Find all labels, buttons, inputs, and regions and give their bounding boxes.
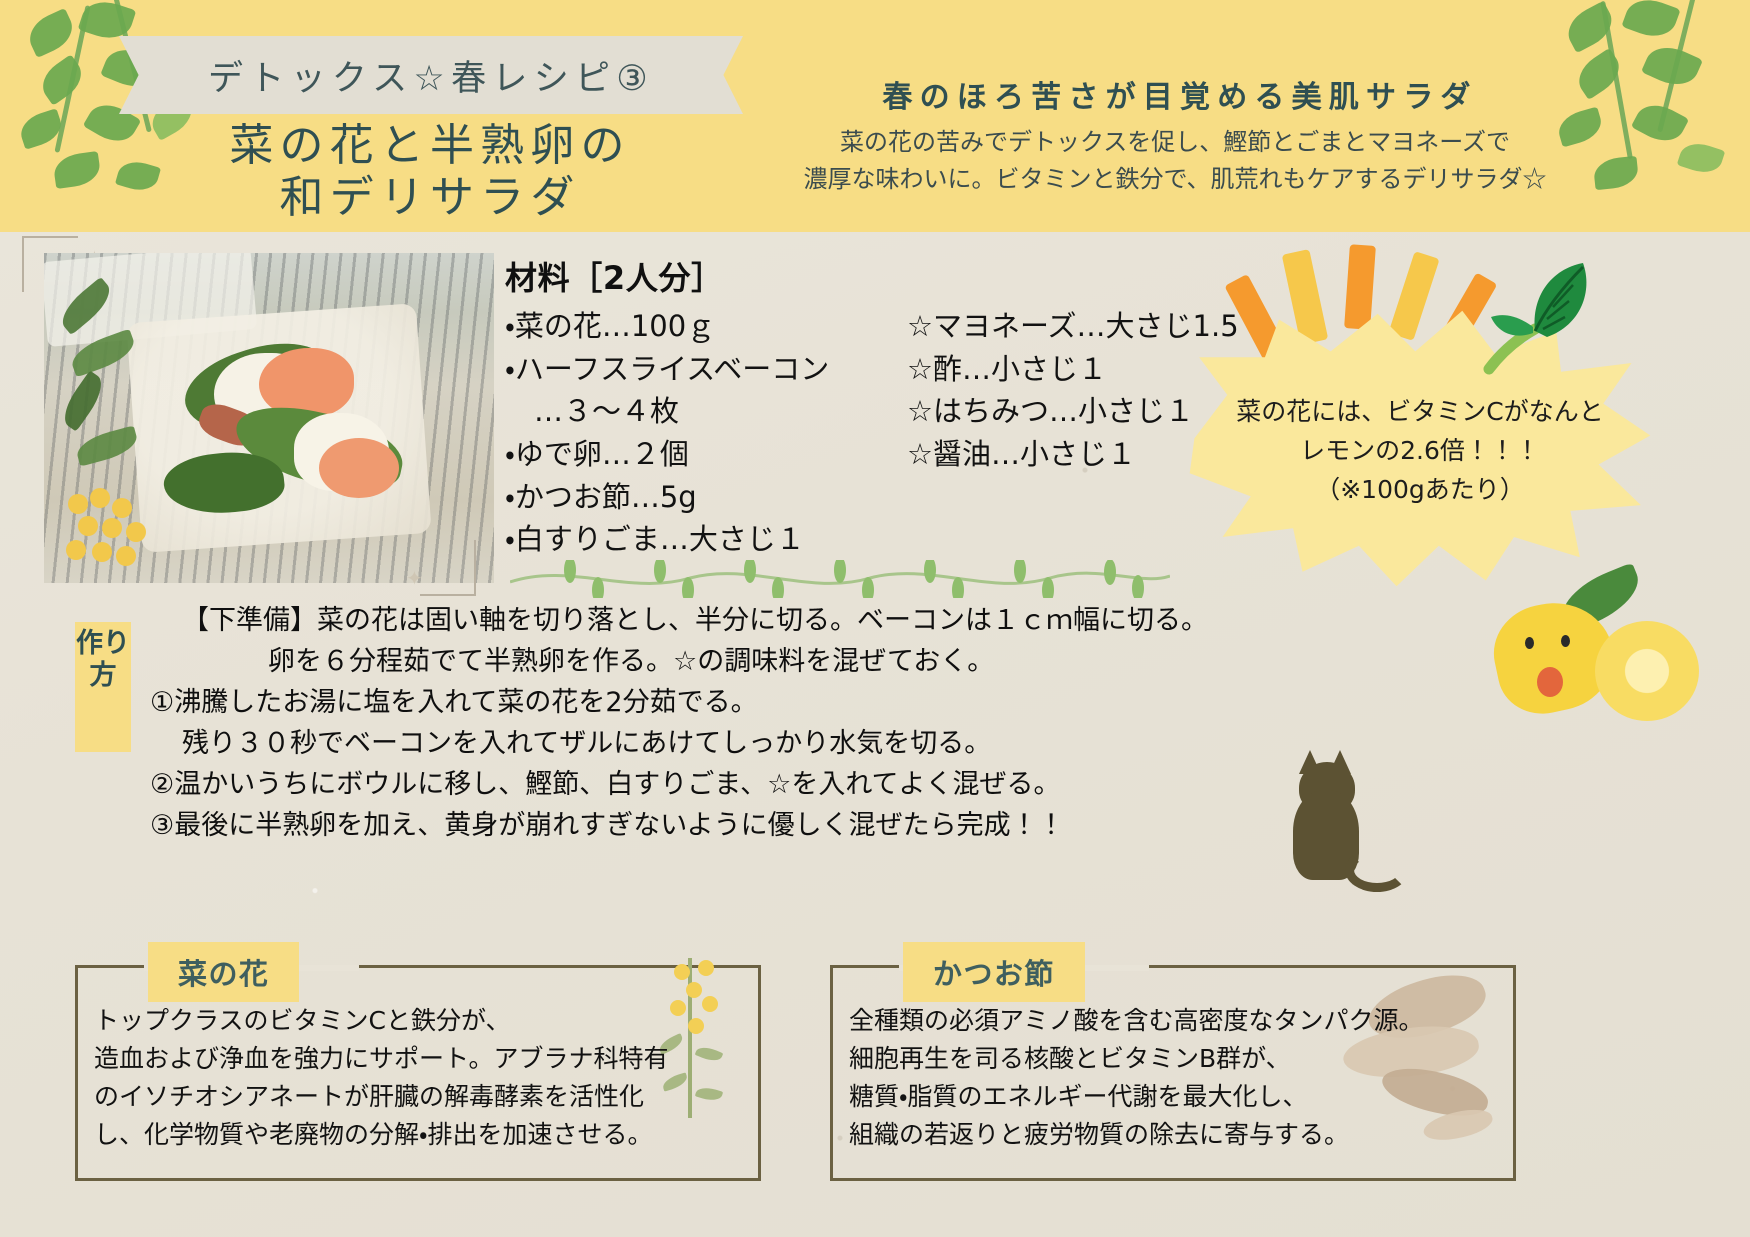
step-line: 卵を６分程茹でて半熟卵を作る。☆の調味料を混ぜておく。 (150, 641, 1250, 682)
info-box-body: トップクラスのビタミンCと鉄分が、 造血および浄血を強力にサポート。アブラナ科特… (94, 1002, 744, 1154)
vitamin-note-text: 菜の花には、ビタミンCがなんと レモンの2.6倍！！！ （※100gあたり） (1190, 393, 1650, 509)
step-line: ①沸騰したお湯に塩を入れて菜の花を2分茹でる。 (150, 682, 1250, 723)
ingredients-column-main: ・菜の花…100ｇ ・ハーフスライスベーコン …３〜４枚 ・ゆで卵…２個 ・かつ… (505, 305, 855, 561)
info-line: 全種類の必須アミノ酸を含む高密度なタンパク源。 (849, 1002, 1499, 1040)
title-line-1: 菜の花と半熟卵の (150, 120, 710, 172)
info-box-body: 全種類の必須アミノ酸を含む高密度なタンパク源。 細胞再生を司る核酸とビタミンB群… (849, 1002, 1499, 1154)
burst-ray (1388, 251, 1439, 341)
burst-line-3: （※100gあたり） (1190, 471, 1650, 510)
sparkle-icon-2: ✦ (406, 566, 423, 591)
info-box-nanohana: 菜の花 トップクラスのビタミンCと鉄分が、 造血および浄血を強力にサポート。アブ… (75, 965, 761, 1181)
page-title: 菜の花と半熟卵の 和デリサラダ (150, 120, 710, 224)
ingredient-item: ・白すりごま…大さじ１ (505, 518, 855, 561)
info-line: 造血および浄血を強力にサポート。アブラナ科特有 (94, 1040, 744, 1078)
lemon-eye-right (1561, 635, 1570, 647)
ingredient-item: ・かつお節…5g (505, 476, 855, 519)
photo-leaf-decoration (52, 293, 162, 493)
info-line: 糖質・脂質のエネルギー代謝を最大化し、 (849, 1078, 1499, 1116)
title-line-2: 和デリサラダ (150, 172, 710, 224)
step-line: ③最後に半熟卵を加え、黄身が崩れすぎないように優しく混ぜたら完成！！ (150, 805, 1250, 846)
info-line: し、化学物質や老廃物の分解・排出を加速させる。 (94, 1116, 744, 1154)
ribbon-badge: デトックス☆春レシピ③ (185, 36, 677, 114)
info-line: のイソチオシアネートが肝臓の解毒酵素を活性化 (94, 1078, 744, 1116)
info-line: 組織の若返りと疲労物質の除去に寄与する。 (849, 1116, 1499, 1154)
burst-ray (1344, 244, 1376, 330)
rapeblossom-leaf-icon (1473, 257, 1603, 377)
info-line: トップクラスのビタミンCと鉄分が、 (94, 1002, 744, 1040)
howto-tab-label: 作り方 (75, 622, 131, 692)
ingredient-item: …３〜４枚 (505, 390, 855, 433)
lead-line-1: 菜の花の苦みでデトックスを促し、鰹節とごまとマヨネーズで (670, 124, 1680, 161)
leaf-decoration-right (1514, 0, 1744, 234)
lead-line-2: 濃厚な味わいに。ビタミンと鉄分で、肌荒れもケアするデリサラダ☆ (670, 161, 1680, 198)
lemon-eye-left (1525, 637, 1534, 649)
step-line: 残り３０秒でベーコンを入れてザルにあけてしっかり水気を切る。 (150, 723, 1250, 764)
corner-ornament-bottom-right (420, 540, 476, 596)
ribbon-plate: デトックス☆春レシピ③ (185, 36, 677, 114)
step-line: 【下準備】菜の花は固い軸を切り落とし、半分に切る。ベーコンは１ｃｍ幅に切る。 (150, 600, 1250, 641)
photo-mimosa-flowers (64, 488, 184, 568)
info-box-label: 菜の花 (148, 942, 299, 1002)
burst-line-1: 菜の花には、ビタミンCがなんと (1190, 393, 1650, 432)
cat-tail (1345, 848, 1409, 892)
ribbon-tail-left (119, 36, 189, 114)
ribbon-label: デトックス☆春レシピ③ (208, 50, 654, 101)
cat-silhouette-icon (1275, 752, 1395, 880)
vine-divider (510, 560, 1170, 598)
photo-egg-yolk-2 (319, 438, 399, 498)
info-box-label: かつお節 (903, 942, 1085, 1002)
ingredient-item: ・菜の花…100ｇ (505, 305, 855, 348)
ingredient-item: ・ゆで卵…２個 (505, 433, 855, 476)
burst-line-2: レモンの2.6倍！！！ (1190, 432, 1650, 471)
lead-text: 菜の花の苦みでデトックスを促し、鰹節とごまとマヨネーズで 濃厚な味わいに。ビタミ… (670, 124, 1680, 198)
recipe-card: デトックス☆春レシピ③ 菜の花と半熟卵の 和デリサラダ 春のほろ苦さが目覚める美… (0, 0, 1750, 1237)
ingredient-item: ・ハーフスライスベーコン (505, 348, 855, 391)
lemon-mascot-icon (1485, 575, 1715, 735)
vitamin-callout: 菜の花には、ビタミンCがなんと レモンの2.6倍！！！ （※100gあたり） (1155, 245, 1715, 605)
info-box-katsuobushi: かつお節 全種類の必須アミノ酸を含む高密度なタンパク源。 細胞再生を司る核酸とビ… (830, 965, 1516, 1181)
howto-steps: 【下準備】菜の花は固い軸を切り落とし、半分に切る。ベーコンは１ｃｍ幅に切る。 卵… (150, 600, 1250, 846)
lemon-slice (1595, 621, 1699, 721)
subtitle: 春のほろ苦さが目覚める美肌サラダ (700, 72, 1660, 116)
howto-tab: 作り方 (75, 622, 131, 752)
dish-photo (44, 253, 494, 583)
header-banner: デトックス☆春レシピ③ 菜の花と半熟卵の 和デリサラダ 春のほろ苦さが目覚める美… (0, 0, 1750, 232)
step-line: ②温かいうちにボウルに移し、鰹節、白すりごま、☆を入れてよく混ぜる。 (150, 764, 1250, 805)
lemon-mouth (1537, 667, 1563, 697)
info-line: 細胞再生を司る核酸とビタミンB群が、 (849, 1040, 1499, 1078)
